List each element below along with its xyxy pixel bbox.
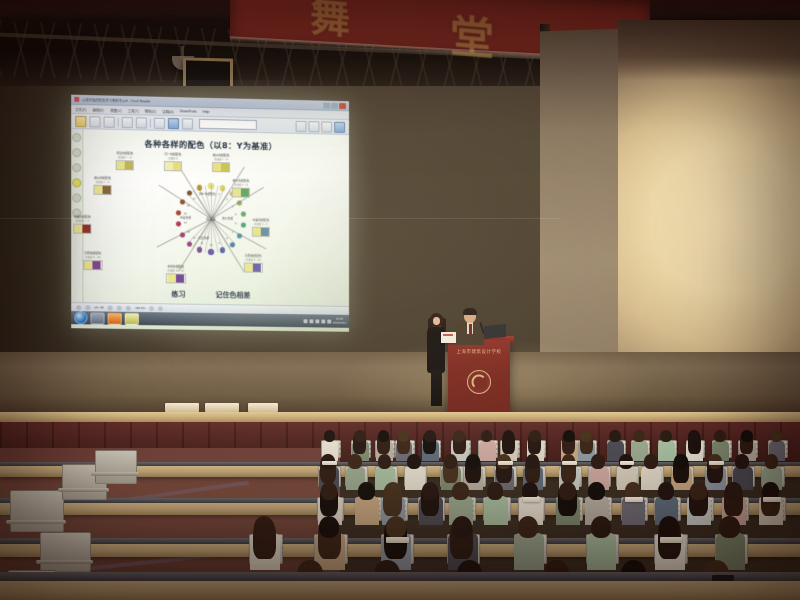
swatch-chip (165, 163, 173, 171)
swatch-pair (212, 163, 230, 173)
zoom-out-icon[interactable] (126, 305, 131, 310)
presenter-handout-marking (443, 334, 453, 336)
audience-member-head (633, 430, 644, 442)
stage-papers-right (248, 403, 278, 412)
audience-member-head (466, 454, 480, 469)
swatch-sublabel: （色相差 2 ~ 3） (232, 183, 250, 187)
zoom-in-icon[interactable] (149, 306, 154, 311)
swatch-pair (83, 260, 102, 270)
color-wheel-number: 6 (235, 222, 236, 225)
banner-character-1: 舞 (310, 0, 350, 46)
projection-screen: 从零开始的配色学习教科书.pdf - Foxit Reader 文件(F) 编辑… (71, 95, 349, 332)
audience-member-head (319, 516, 339, 538)
audience-member-head (741, 430, 752, 442)
audience-member-torso (658, 440, 675, 461)
audience-area (0, 420, 800, 600)
open-notebook (620, 461, 635, 465)
swatch-group-top-center: 同一色相配色（色相差 0） (164, 153, 182, 172)
clock-date: 2019/4/12 (333, 320, 346, 324)
swatch-chip (82, 225, 90, 233)
search-input[interactable] (199, 119, 257, 130)
empty-seat (95, 450, 137, 484)
swatch-sublabel: （色相差 2 ~ 3） (93, 180, 111, 184)
swatch-chip (241, 189, 249, 197)
open-notebook (709, 461, 724, 465)
swatch-chip (74, 225, 82, 233)
bookmark-icon[interactable] (72, 133, 81, 142)
presenter-woman-legs (431, 370, 442, 406)
swatch-chip (245, 264, 253, 272)
stage-papers-left (165, 403, 199, 412)
audience-member-head (487, 482, 503, 500)
swatch-sublabel: （色相差 11 ~ 12） (166, 269, 186, 273)
maximize-button[interactable] (331, 102, 338, 108)
swatch-chip (94, 186, 102, 194)
wall-seam-line (0, 218, 560, 219)
open-notebook (763, 497, 781, 502)
audience-member-head (529, 430, 540, 442)
open-notebook (498, 461, 513, 465)
color-wheel-dot (241, 211, 246, 216)
front-desk-row (0, 580, 800, 600)
audience-member-head (385, 482, 401, 500)
save-icon[interactable] (89, 116, 100, 127)
file-explorer-icon[interactable] (90, 312, 104, 324)
audience-member-head (563, 430, 574, 442)
swatch-chip (233, 189, 241, 197)
audience-member-head (503, 430, 514, 442)
seat-armrest (58, 488, 109, 492)
start-orb-icon[interactable] (74, 311, 87, 324)
audience-member-head (735, 454, 749, 469)
swatch-chip (173, 163, 181, 171)
audience-member-head (588, 482, 604, 500)
footer-memorize-label: 记住色相差 (215, 290, 250, 300)
swatch-chip (93, 262, 101, 270)
swatch-chip (213, 164, 221, 172)
highlight-icon[interactable] (296, 120, 307, 131)
audience-member-torso (484, 496, 508, 526)
audience-member-head (659, 516, 679, 538)
swatch-chip (103, 186, 111, 194)
swatch-group-low-right: 对照色相配色（色相差 8 ~ 10） (244, 255, 262, 274)
presenter-man-hair (463, 308, 477, 315)
audience-member-head (348, 454, 362, 469)
empty-seat (40, 532, 91, 572)
swatch-pair (73, 224, 91, 234)
swatch-chip (176, 275, 184, 283)
stage-papers-center (205, 403, 239, 412)
front-desk-rail (0, 572, 800, 581)
network-icon[interactable] (303, 319, 307, 323)
menu-item-view[interactable]: 视图(V) (110, 107, 121, 112)
audience-member-head (358, 482, 374, 500)
audience-member-head (674, 454, 688, 469)
audience-member-head (609, 430, 620, 442)
first-page-icon[interactable] (76, 305, 81, 310)
battery-icon[interactable] (315, 319, 319, 323)
audience-member-torso (355, 496, 379, 526)
swatch-pair (116, 161, 134, 171)
swatch-sublabel: （色相差 4 ~ 7） (252, 222, 270, 226)
swatch-group-top-left: 邻近色相配色（色相差 1 ~ 2） (116, 152, 134, 171)
swatch-sublabel: （色相差 0） (164, 156, 182, 160)
menu-item-help[interactable]: 帮助(C) (145, 108, 157, 113)
wheel-label-bottom: 对比色相 (198, 236, 209, 240)
zoom-icon[interactable] (182, 118, 193, 129)
swatch-chip (168, 275, 176, 283)
audience-member-head (453, 430, 464, 442)
menu-item-sharepoint[interactable]: SharePoint (180, 109, 197, 113)
fit-page-icon[interactable] (334, 121, 345, 132)
close-button[interactable] (339, 103, 346, 109)
open-notebook (562, 461, 577, 465)
audience-member-head (378, 454, 392, 469)
swatch-chip (85, 261, 93, 269)
laptop-on-podium (484, 324, 506, 339)
footer-practice-label: 练习 (171, 289, 185, 299)
swatch-chip (117, 162, 125, 170)
audience-member-head (424, 430, 435, 442)
taskbar-clock[interactable]: 19:46 2019/4/12 (333, 318, 346, 325)
swatch-sublabel: （色相差 8 ~ 10） (244, 258, 262, 262)
rotate-icon[interactable] (321, 121, 332, 132)
window-title: 从零开始的配色学习教科书.pdf - Foxit Reader (82, 97, 150, 104)
right-wall-upper-shadow (618, 20, 800, 80)
audience-member-head (658, 482, 674, 500)
open-notebook (625, 497, 643, 502)
open-folder-icon[interactable] (75, 115, 86, 126)
audience-member-head (591, 516, 611, 538)
fit-page-icon-status[interactable] (158, 306, 163, 311)
open-notebook (386, 537, 408, 543)
swatch-group-top-right: 类似色相配色（色相差 1 ~ 3） (212, 154, 230, 173)
swatch-chip (253, 264, 261, 272)
swatch-sublabel: （色相差 8 ~ 10） (83, 255, 102, 259)
slide-footer: 练习 记住色相差 (71, 288, 349, 302)
swatch-group-mid-right: 中差色相配色（色相差 4 ~ 7） (252, 219, 270, 238)
audience-member-head (407, 454, 421, 469)
audience-member-head (725, 482, 741, 500)
seat-armrest (91, 472, 139, 476)
menu-item-edit[interactable]: 编辑(E) (93, 107, 104, 112)
empty-seat (10, 490, 64, 532)
windows-taskbar: 19:46 2019/4/12 (71, 311, 349, 328)
smartphone-on-desk (712, 575, 734, 581)
menu-item-file[interactable]: 文件(F) (75, 106, 86, 111)
minimize-button[interactable] (323, 102, 330, 108)
open-notebook (322, 461, 337, 465)
firefox-icon[interactable] (108, 312, 122, 324)
swatch-sublabel: （色相差 1 ~ 2） (116, 155, 134, 159)
audience-member-torso (587, 533, 616, 570)
swatch-pair (252, 227, 270, 237)
audience-member-head (254, 516, 274, 538)
audience-member-head (386, 516, 406, 538)
color-wheel-dot (176, 221, 181, 226)
menu-item-help-en[interactable]: Help (202, 110, 209, 114)
presenter-man-tie (469, 324, 472, 335)
color-wheel-number: 8 (226, 238, 227, 241)
typewriter-icon[interactable] (308, 121, 319, 132)
system-tray: 19:46 2019/4/12 (303, 317, 346, 324)
audience-member-head (518, 516, 538, 538)
color-wheel-number: 5 (235, 213, 236, 216)
color-wheel-number: 14 (184, 222, 187, 225)
audience-member-head (452, 516, 472, 538)
swatch-group-low-left: 对照色相配色（色相差 8 ~ 10） (83, 252, 102, 271)
select-text-icon[interactable] (168, 118, 179, 129)
audience-member-head (526, 454, 540, 469)
audience-member-head (719, 516, 739, 538)
swatch-group-upper-right: 类似色相配色（色相差 2 ~ 3） (232, 179, 250, 198)
next-page-icon[interactable] (108, 305, 113, 310)
swatch-pair (244, 263, 262, 273)
swatch-group-upper-left: 类似色相配色（色相差 2 ~ 3） (93, 177, 111, 196)
open-notebook (660, 537, 682, 543)
audience-member-head (354, 430, 365, 442)
audience-member-head (398, 430, 409, 442)
audience-member-head (765, 454, 779, 469)
swatch-chip (261, 228, 269, 236)
audience-member-head (321, 482, 337, 500)
audience-member-head (591, 454, 605, 469)
email-icon[interactable] (122, 116, 133, 127)
page-indicator: 23 / 96 (94, 305, 103, 309)
swatch-pair (166, 274, 186, 284)
swatch-pair (93, 185, 111, 195)
seat-armrest (36, 560, 93, 564)
print-icon[interactable] (104, 116, 115, 127)
swatch-pair (164, 162, 182, 172)
podium-institution-text: 上海市建筑设计学校 (448, 349, 510, 355)
audience-member-head (452, 482, 468, 500)
security-icon[interactable] (321, 319, 325, 323)
menu-item-comments[interactable]: 注释(A) (162, 108, 173, 113)
school-emblem-icon (467, 370, 491, 394)
audience-member-head (690, 482, 706, 500)
audience-member-head (422, 482, 438, 500)
swatch-chip (125, 162, 133, 170)
swatch-sublabel: （色相差 1 ~ 3） (212, 158, 230, 162)
pdf-document-icon (74, 97, 79, 102)
banner-character-2: 堂 (450, 0, 494, 68)
hand-tool-icon[interactable] (154, 117, 165, 128)
podium: 上海市建筑设计学校 (448, 340, 510, 415)
audience-member-head (559, 482, 575, 500)
swatch-chip (253, 228, 261, 236)
prev-page-icon[interactable] (85, 305, 90, 310)
wheel-ray (211, 219, 212, 253)
last-page-icon[interactable] (117, 305, 122, 310)
swatch-chip (221, 164, 229, 172)
audience-member-head (444, 454, 458, 469)
zoom-level: 125.6% (135, 306, 145, 310)
audience-member-head (660, 430, 671, 442)
foxit-reader-icon[interactable] (125, 312, 139, 324)
audience-member-torso (479, 440, 496, 461)
audience-member-torso (514, 533, 543, 570)
seat-armrest (6, 520, 66, 524)
swatch-pair (232, 188, 250, 198)
presenter-woman-face (433, 317, 440, 325)
audience-member-head (714, 430, 725, 442)
audience-member-head (580, 430, 591, 442)
audience-member-head (688, 430, 699, 442)
swatch-sublabel: （色相差 4 ~ 7） (73, 219, 91, 223)
snapshot-icon[interactable] (136, 117, 147, 128)
auditorium-lecture-photo: 舞 堂 从零开始的配色学习教科书.pdf - Foxit Reader 文件(F… (0, 0, 800, 600)
wheel-label-top: 同一色相配色 (199, 192, 216, 196)
color-wheel-dot (241, 223, 246, 228)
audience-member-head (644, 454, 658, 469)
menu-item-tools[interactable]: 工具(T) (127, 108, 138, 113)
ime-icon[interactable] (327, 319, 331, 323)
right-wall-panel (540, 29, 620, 362)
volume-icon[interactable] (309, 319, 313, 323)
swatch-group-bottom: 补色色相配色（色相差 11 ~ 12） (166, 265, 186, 284)
open-notebook (523, 497, 541, 502)
